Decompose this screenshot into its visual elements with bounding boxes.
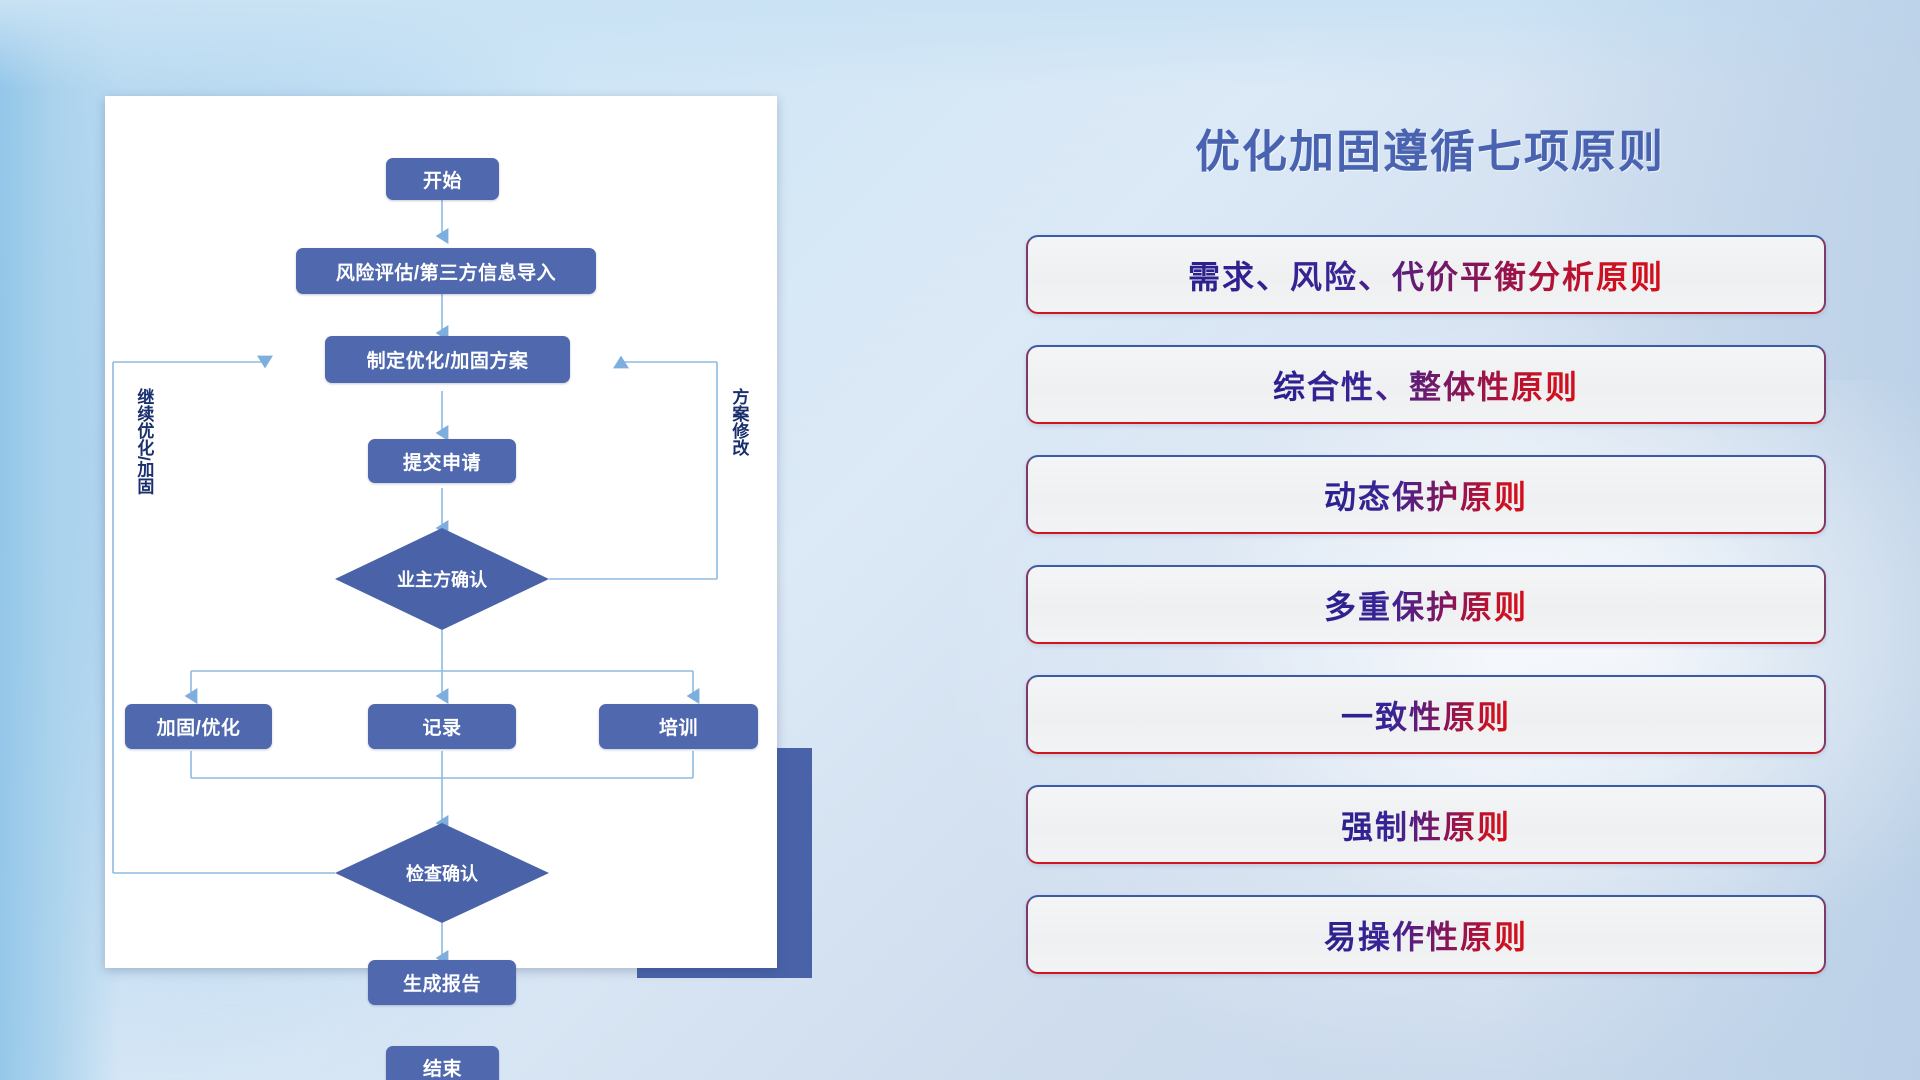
principle-item-6[interactable]: 强制性原则 — [1026, 785, 1826, 864]
principle-item-6-label: 强制性原则 — [1341, 802, 1511, 848]
flow-node-training-label: 培训 — [659, 713, 698, 740]
principle-item-2-label: 综合性、整体性原则 — [1273, 362, 1579, 408]
flow-node-plan[interactable]: 制定优化/加固方案 — [325, 336, 570, 383]
flow-node-report[interactable]: 生成报告 — [368, 960, 516, 1005]
flow-node-record[interactable]: 记录 — [368, 704, 516, 749]
flow-decision-owner-confirm[interactable]: 业主方确认 — [335, 528, 549, 630]
flow-node-reinforce[interactable]: 加固/优化 — [125, 704, 272, 749]
flow-node-end[interactable]: 结束 — [386, 1046, 499, 1080]
principle-item-7[interactable]: 易操作性原则 — [1026, 895, 1826, 974]
flow-node-risk-assessment-label: 风险评估/第三方信息导入 — [336, 258, 556, 285]
principle-item-3-label: 动态保护原则 — [1324, 472, 1528, 518]
flow-node-submit-label: 提交申请 — [403, 448, 481, 475]
flow-node-start[interactable]: 开始 — [386, 158, 499, 200]
flow-node-record-label: 记录 — [422, 713, 461, 740]
flow-node-plan-label: 制定优化/加固方案 — [367, 346, 529, 373]
flow-decision-owner-confirm-label: 业主方确认 — [397, 566, 487, 592]
flowchart-card: 开始 风险评估/第三方信息导入 制定优化/加固方案 提交申请 业主方确认 加固/… — [105, 96, 777, 968]
principle-item-7-label: 易操作性原则 — [1324, 912, 1528, 958]
principle-item-4-label: 多重保护原则 — [1324, 582, 1528, 628]
flow-edge-label-left: 继续优化/加固 — [135, 388, 152, 558]
principle-item-5-label: 一致性原则 — [1341, 692, 1511, 738]
principle-item-3[interactable]: 动态保护原则 — [1026, 455, 1826, 534]
principle-item-4[interactable]: 多重保护原则 — [1026, 565, 1826, 644]
flow-decision-check-confirm-label: 检查确认 — [406, 860, 478, 886]
principles-list: 需求、风险、代价平衡分析原则 综合性、整体性原则 动态保护原则 多重保护原则 一… — [1026, 235, 1826, 1005]
principles-panel: 优化加固遵循七项原则 需求、风险、代价平衡分析原则 综合性、整体性原则 动态保护… — [1020, 100, 1840, 1000]
background-left-band — [0, 0, 120, 1080]
flow-node-report-label: 生成报告 — [403, 969, 481, 996]
principle-item-2[interactable]: 综合性、整体性原则 — [1026, 345, 1826, 424]
principle-item-1-label: 需求、风险、代价平衡分析原则 — [1188, 252, 1664, 298]
principle-item-5[interactable]: 一致性原则 — [1026, 675, 1826, 754]
flow-node-reinforce-label: 加固/优化 — [157, 713, 241, 740]
principle-item-1[interactable]: 需求、风险、代价平衡分析原则 — [1026, 235, 1826, 314]
flow-node-start-label: 开始 — [423, 166, 462, 193]
principles-title: 优化加固遵循七项原则 — [1020, 115, 1840, 180]
flow-edge-label-right: 方案修改 — [730, 388, 747, 508]
flow-node-risk-assessment[interactable]: 风险评估/第三方信息导入 — [296, 248, 596, 294]
flow-node-submit[interactable]: 提交申请 — [368, 439, 516, 483]
flowchart: 开始 风险评估/第三方信息导入 制定优化/加固方案 提交申请 业主方确认 加固/… — [105, 96, 777, 968]
flow-decision-check-confirm[interactable]: 检查确认 — [335, 823, 549, 923]
flow-node-training[interactable]: 培训 — [599, 704, 758, 749]
flow-node-end-label: 结束 — [423, 1054, 462, 1080]
